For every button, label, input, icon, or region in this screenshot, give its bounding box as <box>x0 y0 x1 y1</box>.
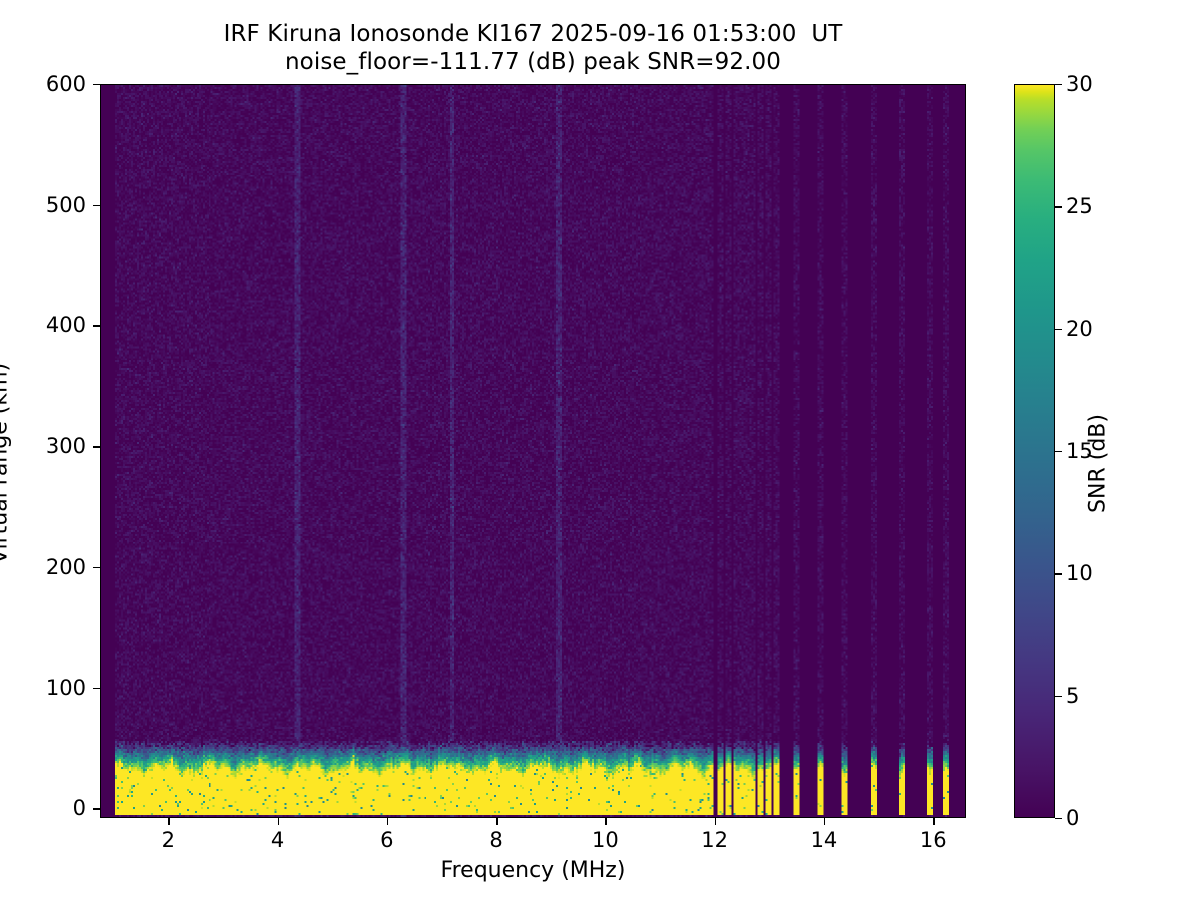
x-tick-label: 16 <box>920 828 947 852</box>
title-line-2: noise_floor=-111.77 (dB) peak SNR=92.00 <box>100 48 966 76</box>
y-tick-mark <box>93 325 100 326</box>
plot-axes <box>100 84 966 818</box>
x-tick-label: 14 <box>811 828 838 852</box>
y-axis-label: Virtual range (km) <box>0 314 13 614</box>
y-tick-mark <box>93 808 100 809</box>
colorbar-gradient <box>1014 84 1055 818</box>
colorbar-label: SNR (dB) <box>1086 314 1111 614</box>
x-tick-label: 12 <box>701 828 728 852</box>
x-tick-label: 8 <box>489 828 502 852</box>
x-tick-mark <box>605 818 606 825</box>
x-tick-mark <box>278 818 279 825</box>
y-tick-mark <box>93 84 100 85</box>
x-tick-mark <box>387 818 388 825</box>
ionogram-figure: IRF Kiruna Ionosonde KI167 2025-09-16 01… <box>0 0 1200 900</box>
x-axis-label: Frequency (MHz) <box>100 858 966 883</box>
figure-title: IRF Kiruna Ionosonde KI167 2025-09-16 01… <box>100 20 966 76</box>
y-tick-mark <box>93 688 100 689</box>
colorbar-container: 051015202530 <box>1014 84 1055 818</box>
x-tick-mark <box>933 818 934 825</box>
x-tick-label: 2 <box>162 828 175 852</box>
y-tick-label: 100 <box>46 676 86 700</box>
colorbar-tick-mark <box>1055 329 1062 330</box>
colorbar-tick-mark <box>1055 696 1062 697</box>
y-tick-label: 0 <box>73 796 86 820</box>
y-tick-label: 600 <box>46 72 86 96</box>
x-tick-mark <box>715 818 716 825</box>
y-tick-mark <box>93 567 100 568</box>
y-tick-mark <box>93 205 100 206</box>
ionogram-heatmap <box>101 85 965 817</box>
colorbar-tick-mark <box>1055 818 1062 819</box>
x-tick-mark <box>496 818 497 825</box>
colorbar-tick-mark <box>1055 84 1062 85</box>
x-tick-label: 4 <box>271 828 284 852</box>
y-tick-label: 500 <box>46 193 86 217</box>
y-tick-mark <box>93 446 100 447</box>
x-tick-mark <box>168 818 169 825</box>
colorbar-tick-label: 25 <box>1066 194 1093 218</box>
y-tick-label: 300 <box>46 434 86 458</box>
colorbar-tick-label: 30 <box>1066 72 1093 96</box>
y-tick-label: 400 <box>46 313 86 337</box>
x-tick-mark <box>824 818 825 825</box>
colorbar-tick-label: 0 <box>1066 806 1079 830</box>
x-tick-label: 6 <box>380 828 393 852</box>
colorbar-tick-mark <box>1055 206 1062 207</box>
x-tick-label: 10 <box>592 828 619 852</box>
colorbar-tick-mark <box>1055 451 1062 452</box>
colorbar-tick-label: 5 <box>1066 684 1079 708</box>
title-line-1: IRF Kiruna Ionosonde KI167 2025-09-16 01… <box>100 20 966 48</box>
y-tick-label: 200 <box>46 555 86 579</box>
colorbar-tick-mark <box>1055 573 1062 574</box>
